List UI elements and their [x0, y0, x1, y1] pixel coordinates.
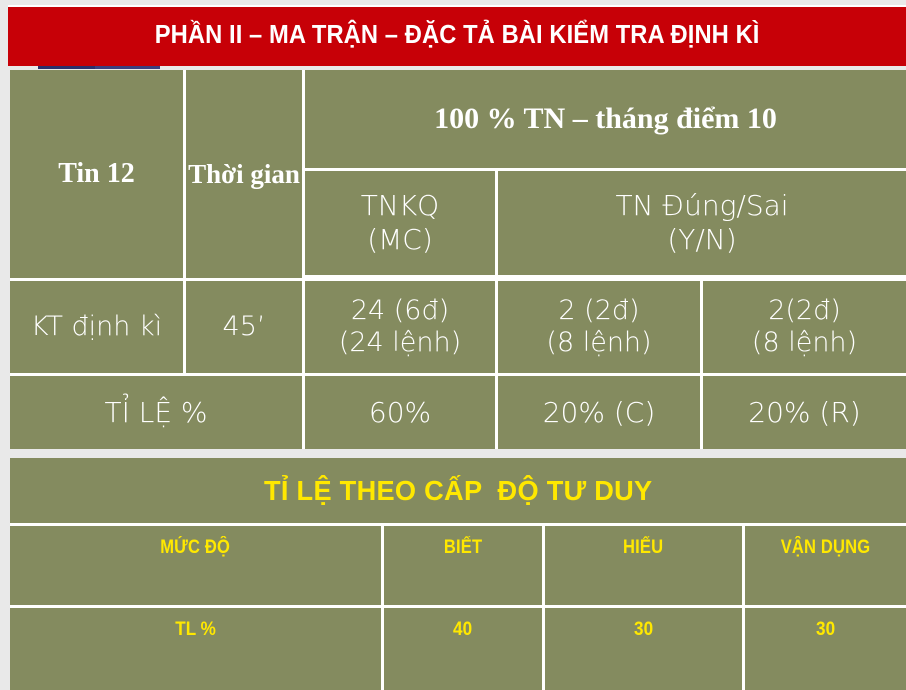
page-title: PHẦN II – MA TRẬN – ĐẶC TẢ BÀI KIỂM TRA …	[155, 21, 760, 52]
cell-dungsai-1-line2: (8 lệnh)	[546, 327, 651, 358]
cell-biet-value: 40	[384, 608, 545, 690]
header-time: Thời gian	[186, 70, 305, 281]
header-dungsai-line2: (Y/N)	[667, 223, 736, 256]
thinking-levels-header-row: MỨC ĐỘ BIẾT HIỂU VẬN DỤNG	[10, 526, 906, 608]
table-row: TL % 40 30 30	[10, 608, 906, 690]
header-muc-do: MỨC ĐỘ	[10, 526, 384, 608]
header-exam-group: 100 % TN – tháng điểm 10 TNKQ (MC) TN Đú…	[305, 70, 906, 281]
header-dungsai-line1: TN Đúng/Sai	[615, 189, 788, 222]
cell-dungsai-1-line1: 2 (2đ)	[558, 295, 639, 326]
cell-hieu-value: 30	[545, 608, 745, 690]
cell-dungsai-2-line2: (8 lệnh)	[752, 327, 857, 358]
slide-title-banner: PHẦN II – MA TRẬN – ĐẶC TẢ BÀI KIỂM TRA …	[8, 5, 906, 66]
header-biet: BIẾT	[384, 526, 545, 608]
cell-van-dung-value: 30	[745, 608, 906, 690]
row-label-ti-le-phan-tram: TỈ LỆ %	[10, 376, 305, 449]
matrix-header-row: Tin 12 Thời gian 100 % TN – tháng điểm 1…	[10, 70, 906, 281]
cell-tnkq-count-line2: (24 lệnh)	[339, 327, 461, 358]
header-tnkq-line1: TNKQ	[361, 189, 439, 222]
section-band-thinking-levels: TỈ LỆ THEO CẤP ĐỘ TƯ DUY	[10, 458, 906, 526]
section-band-title: TỈ LỆ THEO CẤP ĐỘ TƯ DUY	[264, 475, 652, 507]
row-label-kt-dinh-ki: KT định kì	[10, 281, 186, 376]
table-row: TỈ LỆ % 60% 20% (C) 20% (R)	[10, 376, 906, 449]
header-exam-type: 100 % TN – tháng điểm 10	[305, 70, 906, 171]
matrix-table: Tin 12 Thời gian 100 % TN – tháng điểm 1…	[10, 70, 906, 449]
header-hieu: HIỂU	[545, 526, 745, 608]
table-row: KT định kì 45’ 24 (6đ) (24 lệnh) 2 (2đ) …	[10, 281, 906, 376]
header-subcolumns-row: TNKQ (MC) TN Đúng/Sai (Y/N)	[305, 171, 906, 278]
header-subject: Tin 12	[10, 70, 186, 281]
cell-dungsai-2-percent: 20% (R)	[703, 376, 906, 449]
header-tnkq-line2: (MC)	[367, 223, 433, 256]
slide-canvas: PHẦN II – MA TRẬN – ĐẶC TẢ BÀI KIỂM TRA …	[0, 0, 906, 690]
cell-dungsai-2-line1: 2(2đ)	[768, 295, 841, 326]
cell-tnkq-count: 24 (6đ) (24 lệnh)	[305, 281, 498, 376]
header-dungsai: TN Đúng/Sai (Y/N)	[498, 171, 906, 278]
cell-tnkq-percent: 60%	[305, 376, 498, 449]
row-label-tl-percent: TL %	[10, 608, 384, 690]
cell-dungsai-1-count: 2 (2đ) (8 lệnh)	[498, 281, 703, 376]
header-van-dung: VẬN DỤNG	[745, 526, 906, 608]
cell-tnkq-count-line1: 24 (6đ)	[351, 295, 449, 326]
header-tnkq: TNKQ (MC)	[305, 171, 498, 278]
cell-dungsai-1-percent: 20% (C)	[498, 376, 703, 449]
cell-time-value: 45’	[186, 281, 305, 376]
thinking-levels-table: MỨC ĐỘ BIẾT HIỂU VẬN DỤNG TL % 40 30	[10, 526, 906, 690]
cell-dungsai-2-count: 2(2đ) (8 lệnh)	[703, 281, 906, 376]
